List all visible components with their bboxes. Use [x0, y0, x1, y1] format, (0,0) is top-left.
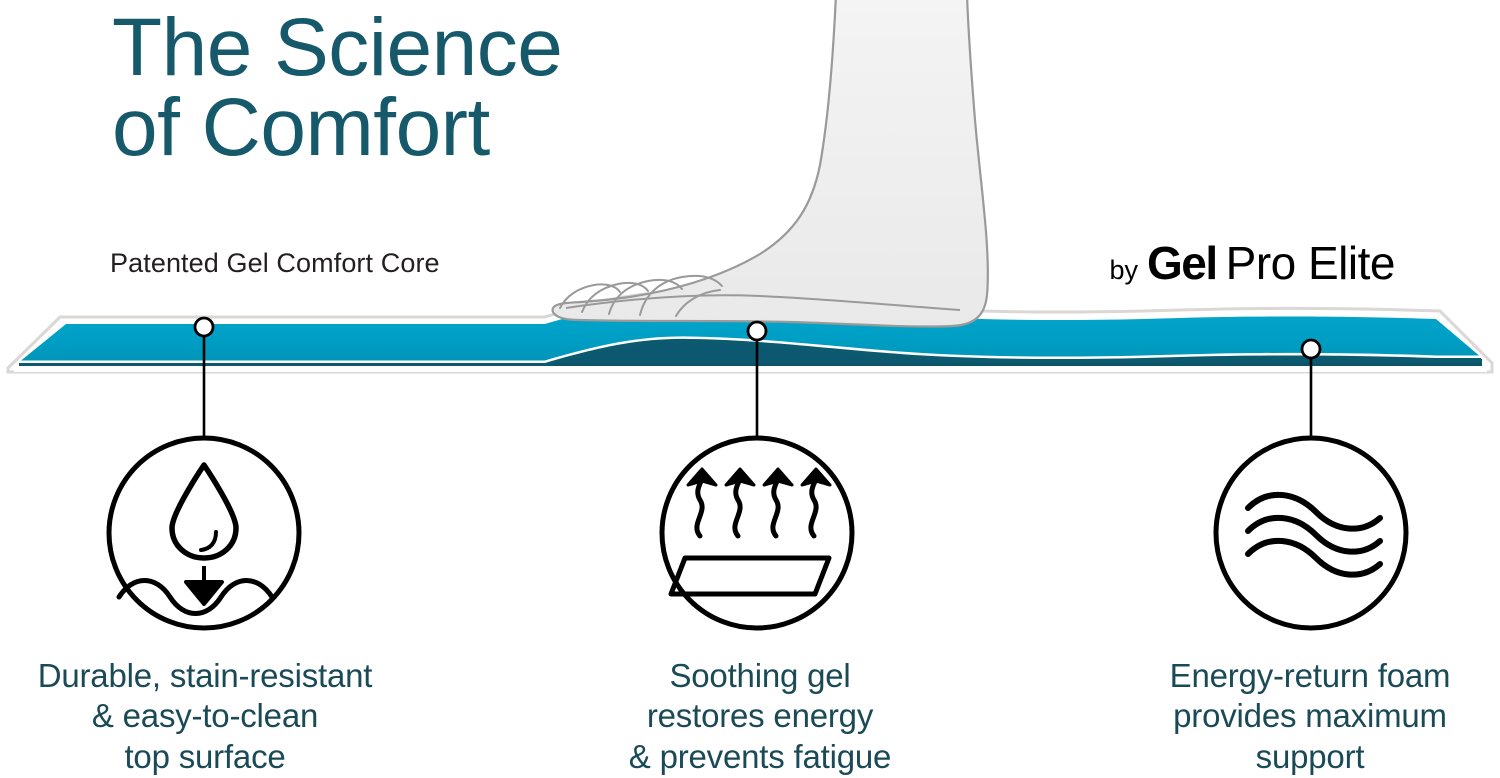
leader-dot-2 — [748, 322, 766, 340]
feature-caption-2: Soothing gel restores energy & prevents … — [575, 656, 945, 777]
science-of-comfort-infographic: The Science of Comfort Patented Gel Comf… — [0, 0, 1500, 778]
rising-energy-arrows-icon-ring — [662, 438, 852, 628]
foot-illustration — [553, 0, 988, 327]
foot-silhouette — [553, 0, 988, 327]
feature-icon-2 — [662, 438, 852, 628]
feature-icon-3 — [1216, 438, 1406, 628]
feature-caption-1: Durable, stain-resistant & easy-to-clean… — [0, 656, 410, 777]
feature-caption-3: Energy-return foam provides maximum supp… — [1120, 656, 1500, 777]
leader-dot-3 — [1302, 340, 1320, 358]
feature-icon-1 — [109, 438, 299, 628]
leader-dot-1 — [195, 318, 213, 336]
